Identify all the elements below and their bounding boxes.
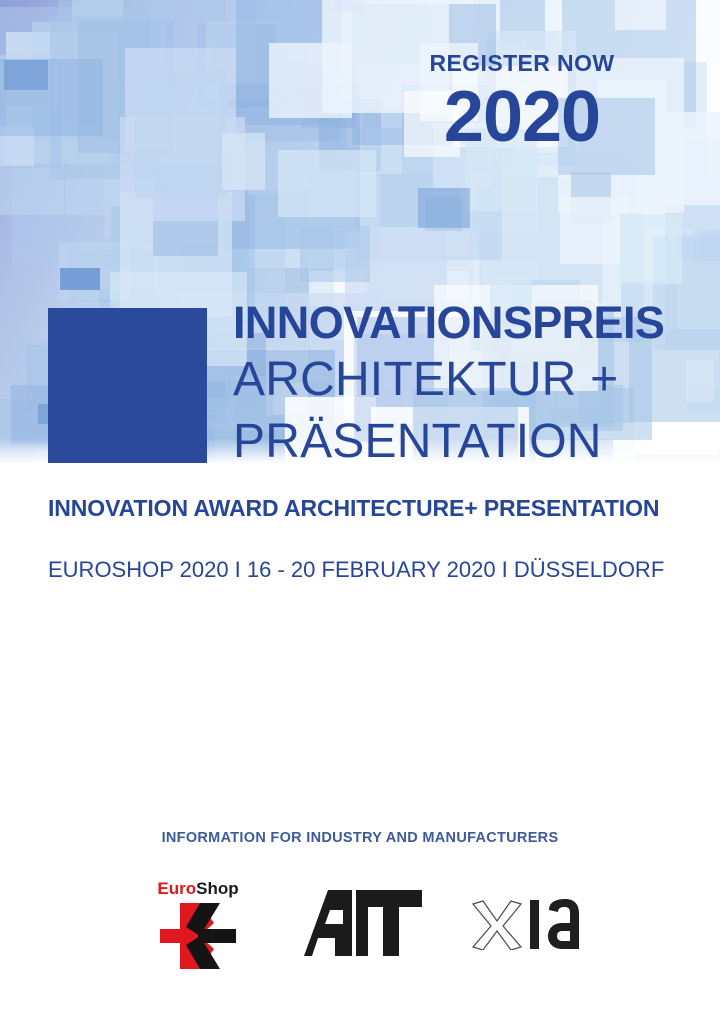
euroshop-word-euro: Euro [157, 879, 196, 898]
logo-row: EuroShop [0, 876, 720, 976]
blue-accent-square [48, 308, 207, 463]
register-now-label: REGISTER NOW [360, 52, 684, 75]
logo-euroshop: EuroShop [150, 880, 246, 972]
register-block: REGISTER NOW 2020 [360, 52, 684, 154]
event-details-line: EUROSHOP 2020 I 16 - 20 FEBRUARY 2020 I … [48, 557, 664, 583]
footer-note: INFORMATION FOR INDUSTRY AND MANUFACTURE… [0, 830, 720, 846]
poster-page: REGISTER NOW 2020 INNOVATIONSPREIS ARCHI… [0, 0, 720, 1022]
logo-ait [304, 890, 422, 956]
euroshop-word-shop: Shop [196, 879, 239, 898]
ait-wordmark-icon [304, 890, 422, 956]
headline-line-1: INNOVATIONSPREIS [233, 300, 703, 345]
euroshop-starburst-icon [156, 903, 240, 969]
headline-line-3: PRÄSENTATION [233, 411, 703, 473]
xia-wordmark-icon [470, 898, 582, 950]
headline-line-2: ARCHITEKTUR + [233, 349, 703, 411]
register-year-label: 2020 [360, 81, 684, 154]
page-title: INNOVATIONSPREIS ARCHITEKTUR + PRÄSENTAT… [233, 300, 703, 474]
subtitle-english: INNOVATION AWARD ARCHITECTURE+ PRESENTAT… [48, 495, 659, 522]
logo-xia [470, 898, 582, 950]
euroshop-wordmark: EuroShop [150, 880, 246, 897]
